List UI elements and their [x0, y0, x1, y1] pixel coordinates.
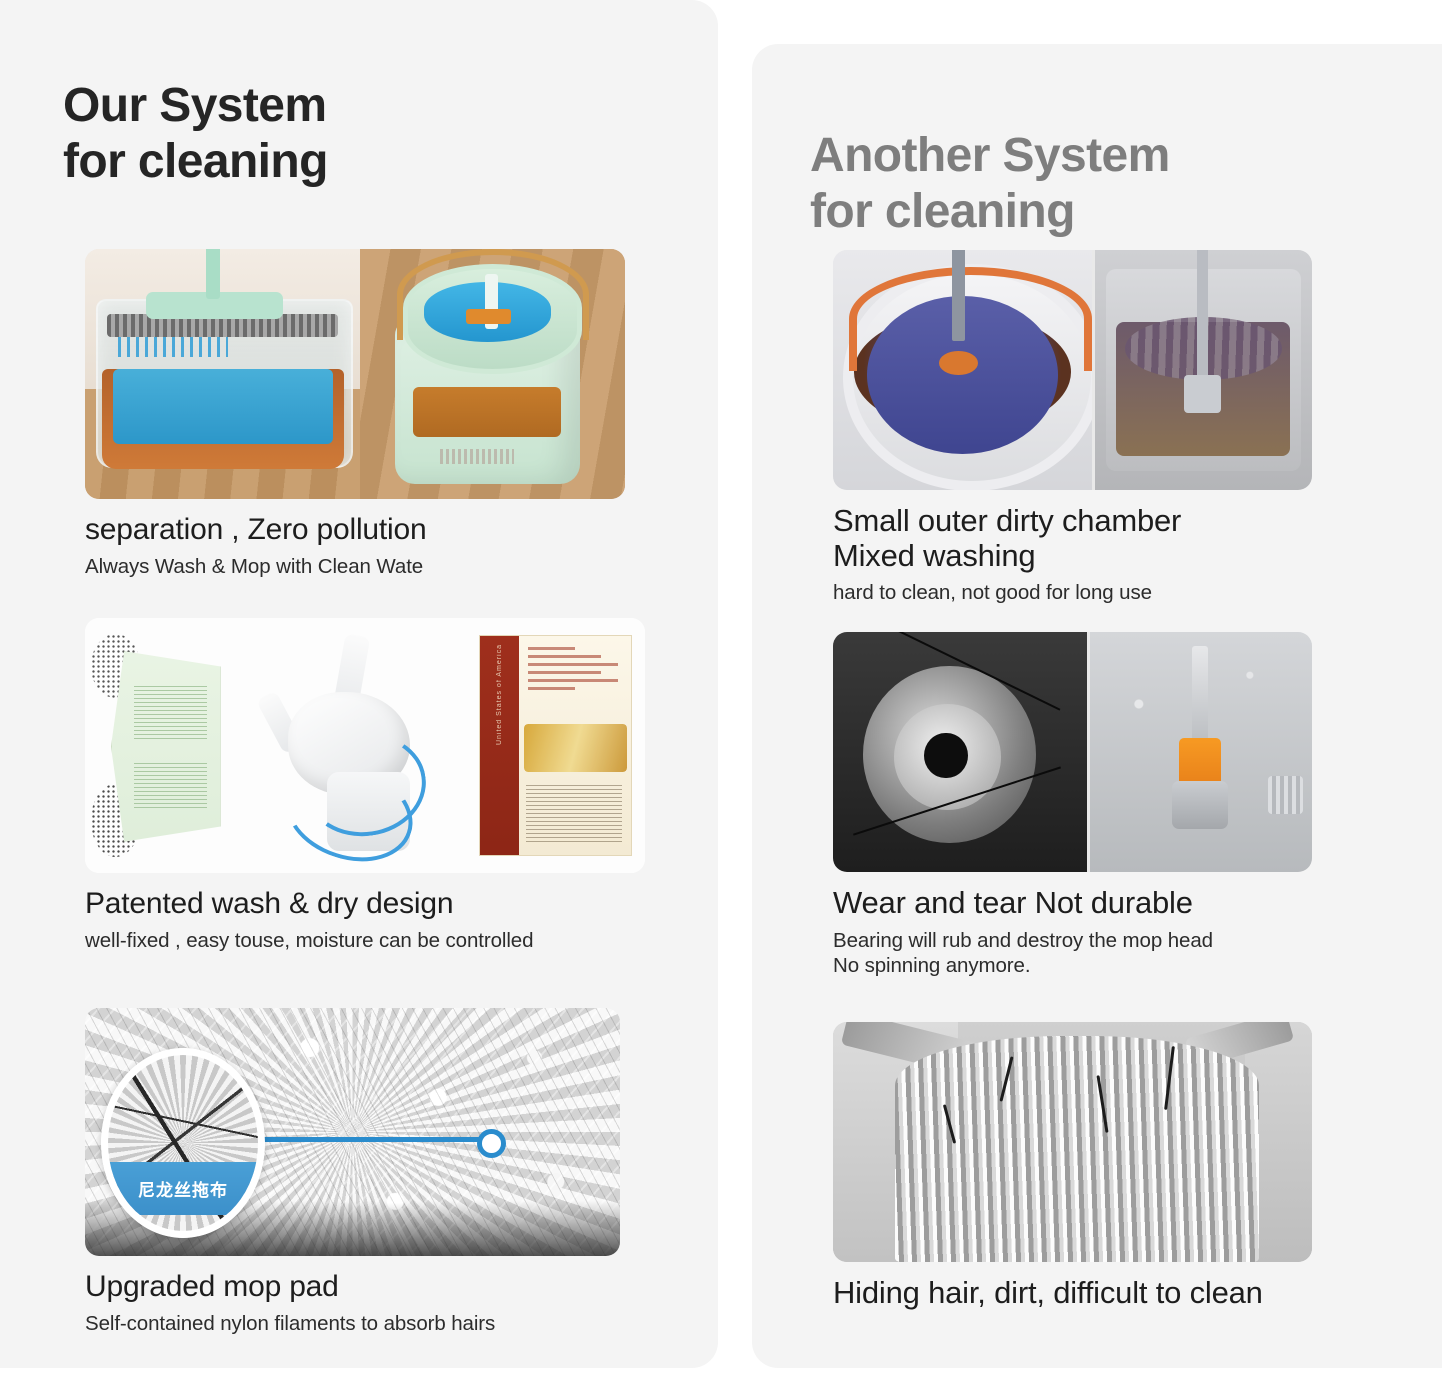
feature-row-separation: separation , Zero pollution Always Wash … [85, 249, 625, 579]
mop-pad-diagram [91, 638, 237, 852]
drawback-heading: Small outer dirty chamber Mixed washing [833, 504, 1312, 573]
orange-spindle-half [1090, 632, 1312, 872]
callout-label: 尼龙丝拖布 [138, 1176, 228, 1201]
rotating-joint-diagram [253, 631, 449, 866]
magnifier-callout: 尼龙丝拖布 [101, 1048, 265, 1238]
feature-subtext: well-fixed , easy touse, moisture can be… [85, 928, 645, 954]
our-system-title: Our System for cleaning [63, 78, 328, 190]
drawback-row-hiding-hair: Hiding hair, dirt, difficult to clean [833, 1022, 1312, 1311]
transparent-bucket-half [85, 249, 360, 499]
feature-subtext: Self-contained nylon filaments to absorb… [85, 1311, 625, 1337]
string-mop-tangled-hair-photo [833, 1022, 1312, 1262]
drawback-subtext: hard to clean, not good for long use [833, 580, 1312, 606]
worn-bearing-and-spindle-photo [833, 632, 1312, 872]
upgraded-mop-pad-macro-photo: 尼龙丝拖布 [85, 1008, 620, 1256]
infographic-canvas: Our System for cleaning separa [0, 0, 1442, 1396]
dirty-mixed-water-buckets-photo [833, 250, 1312, 490]
patent-certificate: United States of America [480, 636, 631, 855]
feature-heading: Upgraded mop pad [85, 1270, 625, 1304]
drawback-row-dirty-chamber: Small outer dirty chamber Mixed washing … [833, 250, 1312, 606]
feature-heading: separation , Zero pollution [85, 513, 625, 547]
another-system-title: Another System for cleaning [810, 128, 1170, 240]
callout-leader-line [246, 1137, 481, 1142]
drawback-heading: Wear and tear Not durable [833, 886, 1312, 921]
drawback-row-wear-and-tear: Wear and tear Not durable Bearing will r… [833, 632, 1312, 979]
mint-spin-bucket-half [360, 249, 625, 499]
feature-heading: Patented wash & dry design [85, 887, 645, 921]
drawback-heading: Hiding hair, dirt, difficult to clean [833, 1276, 1312, 1311]
callout-leader-dot [477, 1129, 506, 1158]
square-bucket-half [1095, 250, 1312, 490]
feature-subtext: Always Wash & Mop with Clean Wate [85, 554, 625, 580]
drawback-subtext: Bearing will rub and destroy the mop hea… [833, 928, 1312, 979]
worn-bearing-half [833, 632, 1087, 872]
clean-water-separation-bucket-photo [85, 249, 625, 499]
round-bucket-half [833, 250, 1092, 490]
feature-row-patented-design: United States of America Patented wash &… [85, 618, 645, 953]
feature-row-mop-pad: 尼龙丝拖布 Upgraded mop pad Self-contained ny… [85, 1008, 625, 1336]
patented-joint-and-patent-certificate-photo: United States of America [85, 618, 645, 873]
